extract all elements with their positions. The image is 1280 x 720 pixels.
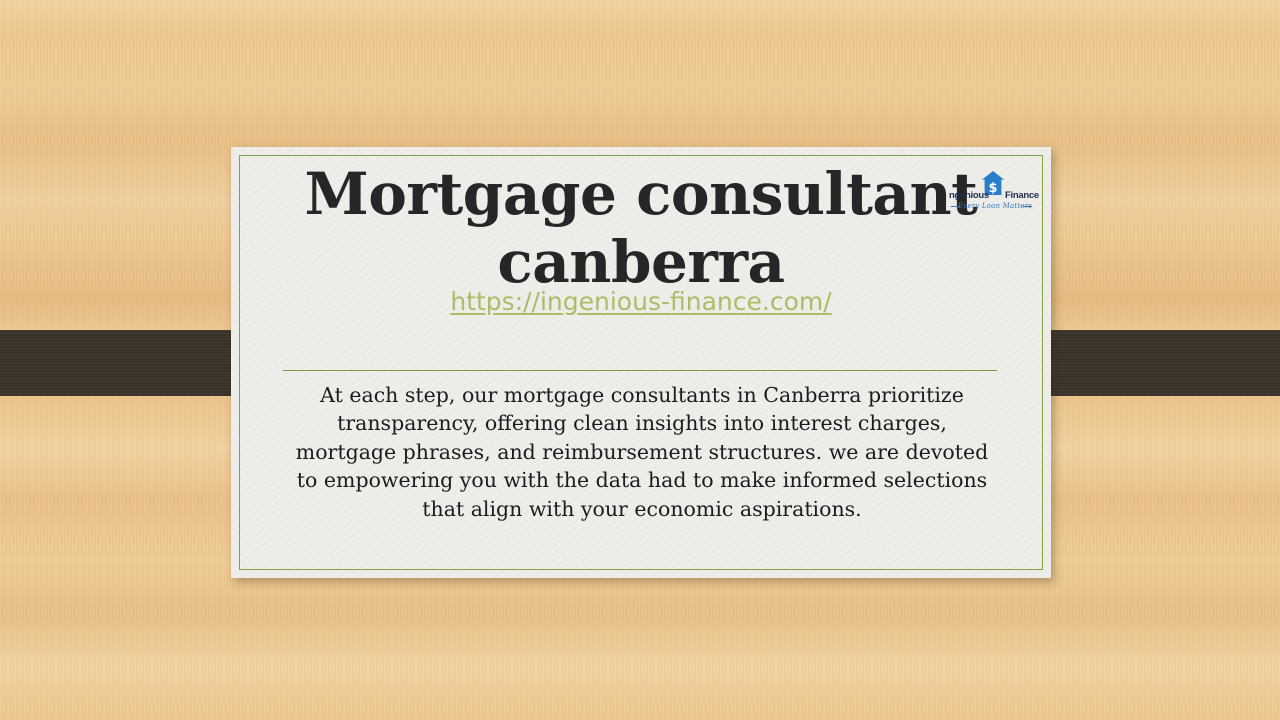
website-url-link[interactable]: https://ingenious-finance.com/ — [271, 288, 1011, 316]
content-card: Mortgage consultant canberra $ ngenious … — [231, 147, 1051, 578]
slide-canvas: Mortgage consultant canberra $ ngenious … — [0, 0, 1280, 720]
body-paragraph: At each step, our mortgage consultants i… — [289, 381, 995, 523]
logo-word-finance: Finance — [1005, 190, 1039, 201]
page-title: Mortgage consultant canberra — [271, 160, 1011, 296]
logo-word-ingenious: ngenious — [949, 190, 989, 201]
card-header: Mortgage consultant canberra $ ngenious … — [231, 147, 1051, 331]
logo-tagline: Every Loan Matters — [957, 202, 1033, 210]
ingenious-finance-logo: $ ngenious Finance Every Loan Matters — [949, 171, 1033, 219]
horizontal-divider — [283, 370, 997, 371]
svg-text:$: $ — [988, 181, 997, 195]
